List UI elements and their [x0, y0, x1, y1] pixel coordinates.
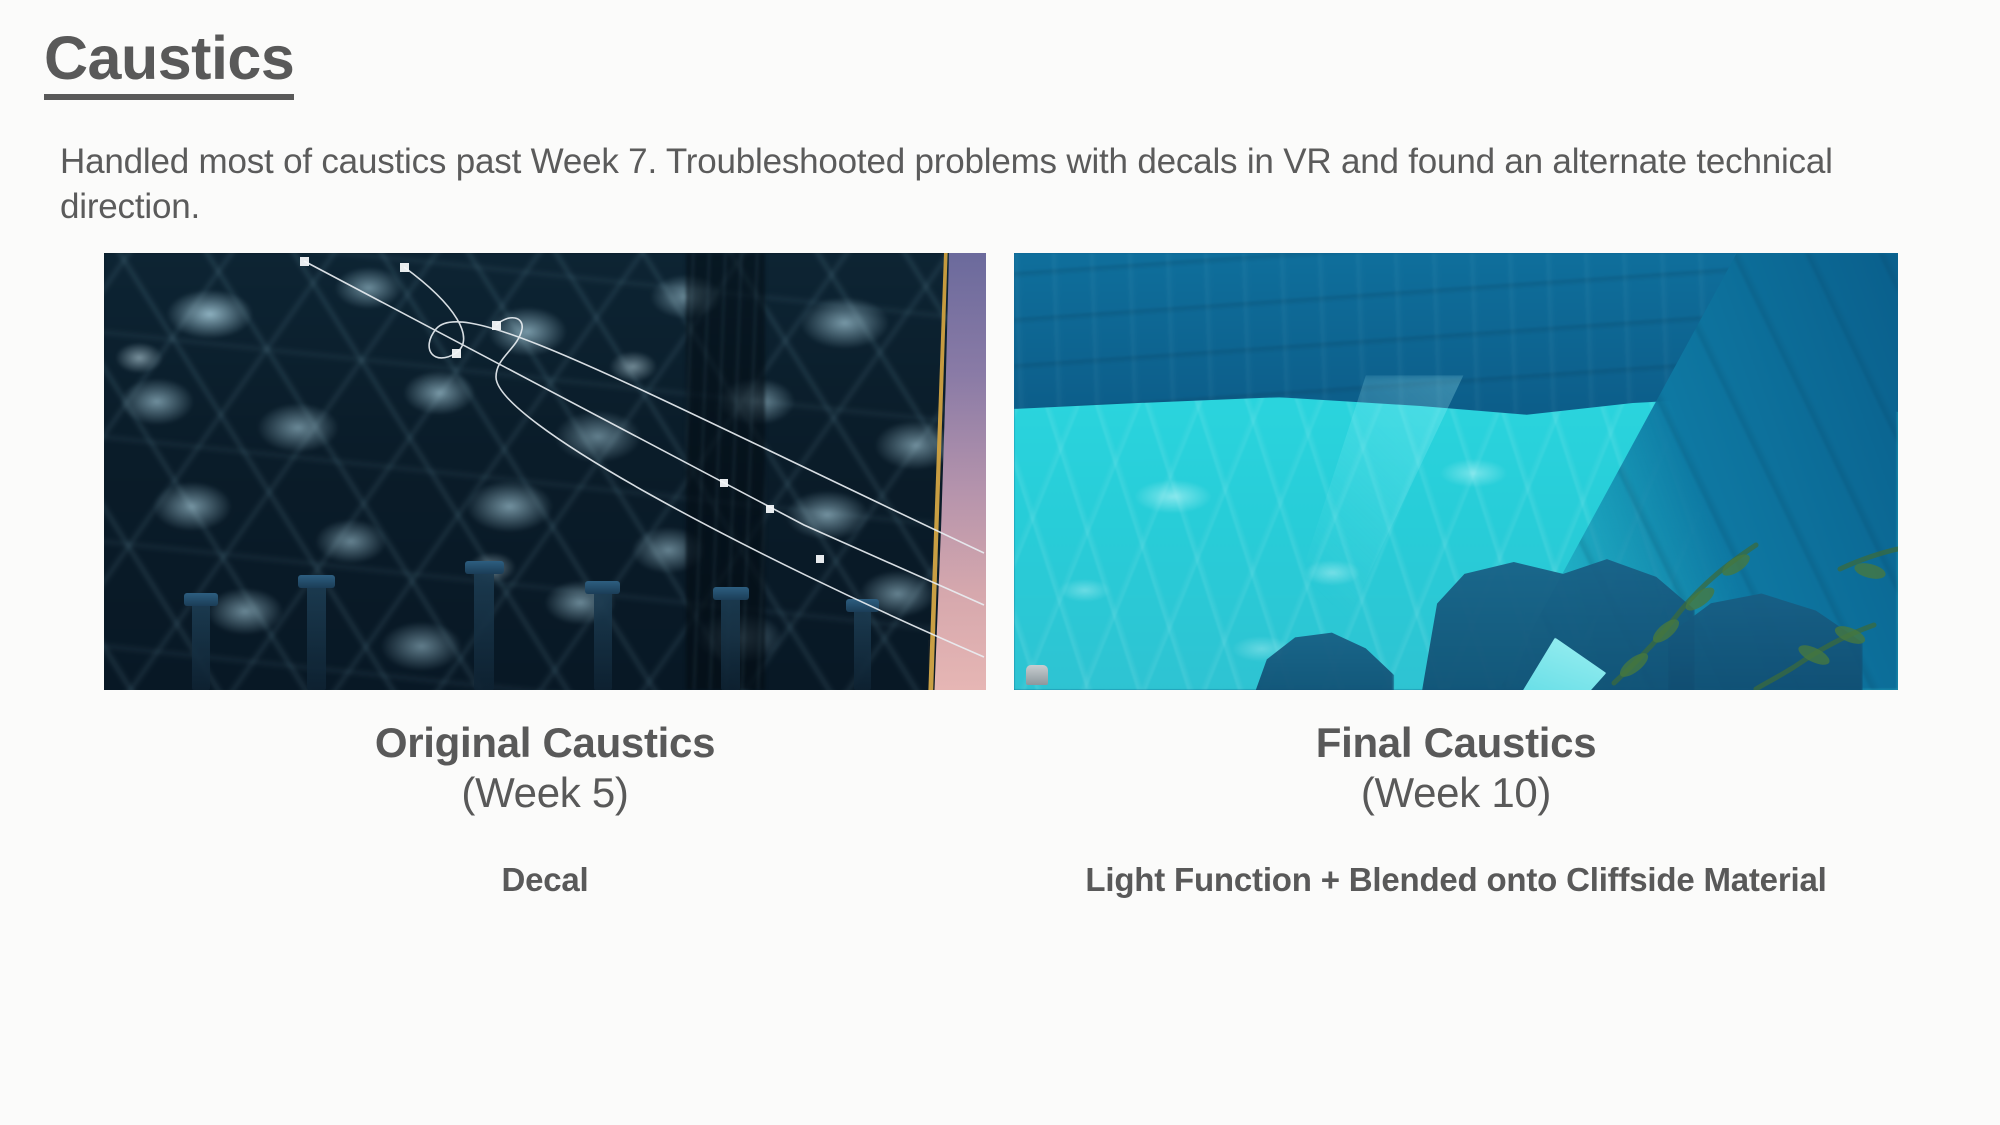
caption-technique: Light Function + Blended onto Cliffside …: [1014, 859, 1898, 902]
original-caustics-image: [104, 253, 986, 690]
body-paragraph: Handled most of caustics past Week 7. Tr…: [60, 140, 1940, 230]
kelp-strands: [1014, 253, 1898, 690]
figure-column-final: Final Caustics (Week 10) Light Function …: [1014, 253, 1898, 902]
page-title-wrapper: Caustics: [44, 26, 294, 100]
small-prop-object: [1026, 665, 1048, 685]
caption-heading: Original Caustics: [104, 718, 986, 768]
original-caustics-caption: Original Caustics (Week 5) Decal: [104, 718, 986, 902]
caption-heading: Final Caustics: [1014, 718, 1898, 768]
slide: Caustics Handled most of caustics past W…: [0, 0, 2000, 1125]
lagoon-scene: [1014, 253, 1898, 690]
final-caustics-caption: Final Caustics (Week 10) Light Function …: [1014, 718, 1898, 902]
editor-spline-wires: [104, 253, 986, 690]
caption-week: (Week 5): [104, 768, 986, 818]
final-caustics-image: [1014, 253, 1898, 690]
caption-technique: Decal: [104, 859, 986, 902]
caption-week: (Week 10): [1014, 768, 1898, 818]
figure-column-original: Original Caustics (Week 5) Decal: [104, 253, 986, 902]
page-title: Caustics: [44, 26, 294, 100]
